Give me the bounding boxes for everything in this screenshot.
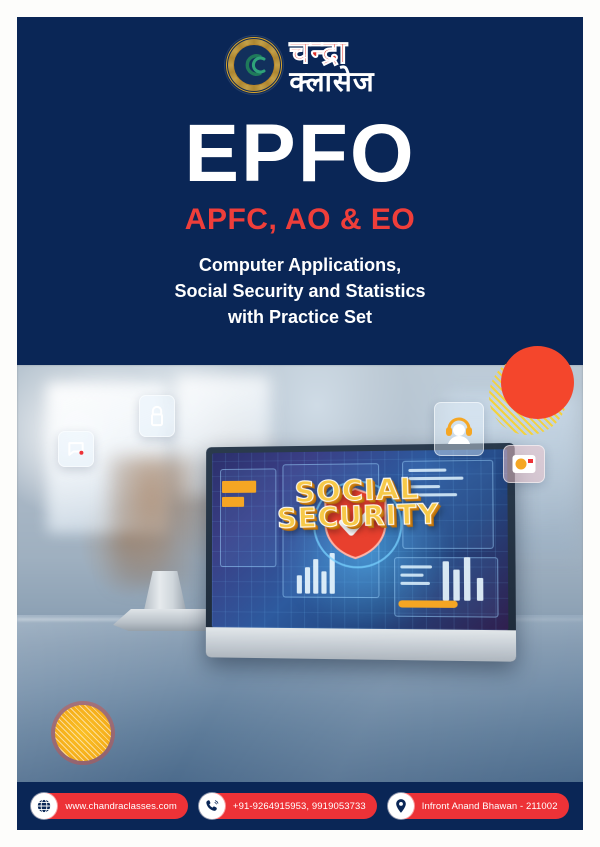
screen-bar [313, 559, 318, 594]
page-subtitle: APFC, AO & EO [17, 205, 583, 235]
padlock-icon [147, 404, 167, 428]
cover-canvas: चन्द्रा क्लासेज EPFO APFC, AO & EO Compu… [17, 17, 583, 830]
screen-line [400, 582, 430, 585]
contact-address[interactable]: Infront Anand Bhawan - 211002 [388, 793, 569, 819]
brand-hindi-text: चन्द्रा क्लासेज [289, 36, 374, 97]
screen-line [400, 574, 423, 577]
screen-bar [477, 578, 484, 601]
chat-bubble-icon [66, 439, 86, 459]
contact-address-text: Infront Anand Bhawan - 211002 [414, 801, 558, 812]
credit-card-icon [511, 453, 537, 475]
floating-card-chat [58, 431, 94, 467]
description-line-3: with Practice Set [17, 304, 583, 330]
contact-footer: www.chandraclasses.com +91-9264915953, 9… [17, 782, 583, 830]
contact-phone[interactable]: +91-9264915953, 9919053733 [199, 793, 377, 819]
headset-support-icon [444, 413, 474, 445]
decorative-yellow-circle [55, 705, 111, 761]
contact-website-text: www.chandraclasses.com [57, 801, 177, 812]
decorative-red-circle [501, 346, 574, 419]
brand-logo: चन्द्रा क्लासेज [17, 25, 583, 105]
description-line-2: Social Security and Statistics [17, 278, 583, 304]
monitor-body: SOCIAL SECURITY [206, 443, 516, 662]
phone-icon [199, 793, 225, 819]
background-person [109, 457, 195, 587]
description-line-1: Computer Applications, [17, 252, 583, 278]
brand-hindi-line2: क्लासेज [289, 69, 374, 97]
book-cover-page: चन्द्रा क्लासेज EPFO APFC, AO & EO Compu… [0, 0, 600, 847]
brand-hindi-line1: चन्द्रा [289, 36, 348, 68]
globe-icon [31, 793, 57, 819]
emblem-monogram-icon [234, 45, 274, 85]
contact-phone-text: +91-9264915953, 9919053733 [225, 801, 366, 812]
page-title: EPFO [17, 113, 583, 195]
floating-card-support [434, 402, 484, 456]
monitor-screen: SOCIAL SECURITY [212, 449, 508, 630]
screen-bar [297, 575, 302, 593]
screen-accent-bar [398, 600, 457, 608]
screen-bar [305, 567, 310, 593]
floating-card-payment [503, 445, 545, 483]
screen-bar [443, 561, 450, 600]
screen-bar [453, 570, 460, 601]
floating-card-lock [139, 395, 175, 437]
desktop-monitor: SOCIAL SECURITY [206, 447, 504, 657]
location-pin-icon [388, 793, 414, 819]
decorative-yellow-hatch [55, 705, 111, 761]
contact-website[interactable]: www.chandraclasses.com [31, 793, 188, 819]
monitor-bezel [206, 627, 516, 662]
screen-headline: SOCIAL SECURITY [212, 472, 508, 534]
screen-bar [464, 557, 471, 601]
screen-bar [321, 571, 326, 593]
chandra-classes-emblem-icon [225, 36, 283, 94]
screen-line [400, 565, 432, 568]
description-block: Computer Applications, Social Security a… [17, 252, 583, 330]
